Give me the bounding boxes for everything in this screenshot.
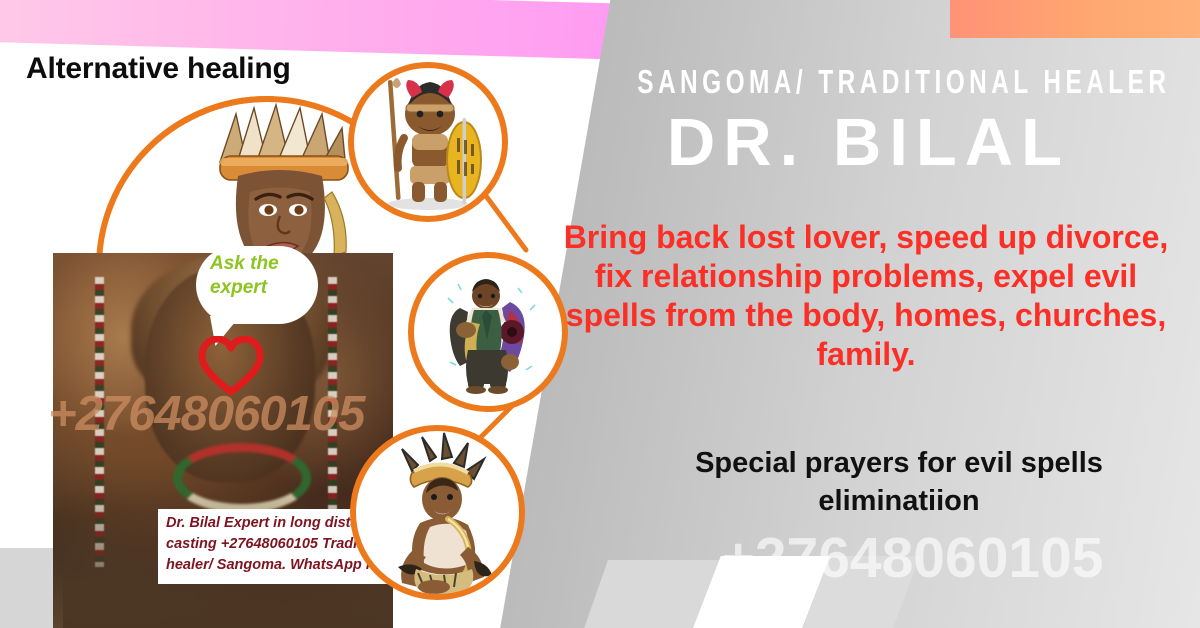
photo-watermark-phone: +27648060105: [48, 386, 438, 442]
services-black-text: Special prayers for evil spells eliminat…: [616, 445, 1182, 520]
header-kicker: SANGOMA/ TRADITIONAL HEALER: [637, 63, 1100, 101]
poster-canvas: Alternative healing: [0, 0, 1200, 628]
pink-top-band: [0, 0, 610, 59]
circle-zulu-warrior: [348, 62, 508, 222]
services-red-text: Bring back lost lover, speed up divorce,…: [546, 218, 1186, 374]
orange-top-band: [950, 0, 1200, 38]
speech-bubble-label: Ask the expert: [210, 252, 318, 300]
circle-robed-diviner: [408, 252, 568, 412]
crouching-dancer-icon: [356, 431, 519, 594]
header-name: DR. BILAL: [556, 104, 1181, 181]
robed-diviner-icon: [414, 258, 562, 406]
contact-watermark-phone: +27648060105: [640, 525, 1185, 591]
circle-crouching-dancer: [350, 425, 525, 600]
page-title: Alternative healing: [26, 52, 291, 86]
zulu-warrior-icon: [354, 68, 502, 216]
